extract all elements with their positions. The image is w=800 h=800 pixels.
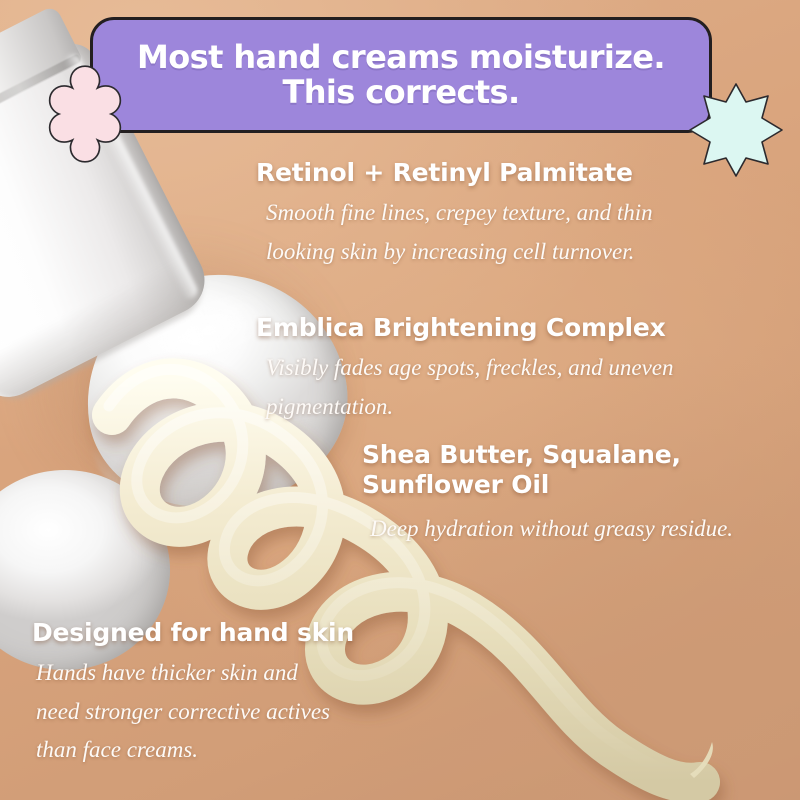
benefit-body-line: Hands have thicker skin and — [36, 654, 412, 693]
benefit-body-line: Smooth fine lines, crepey texture, and t… — [266, 194, 726, 233]
benefit-block-shea: Shea Butter, Squalane, Sunflower Oil Dee… — [362, 440, 782, 549]
starburst-icon — [686, 80, 786, 180]
benefit-block-retinol: Retinol + Retinyl Palmitate Smooth fine … — [256, 158, 726, 271]
benefit-body-line: looking skin by increasing cell turnover… — [266, 233, 726, 272]
benefit-body-line: pigmentation. — [266, 388, 736, 427]
benefit-body: Visibly fades age spots, freckles, and u… — [256, 349, 736, 426]
benefit-body: Deep hydration without greasy residue. — [362, 510, 782, 549]
benefit-heading: Designed for hand skin — [32, 618, 412, 648]
poster-canvas: Most hand creams moisturize. This correc… — [0, 0, 800, 800]
benefit-heading-line: Shea Butter, Squalane, — [362, 440, 782, 470]
benefit-body: Hands have thicker skin and need stronge… — [32, 654, 412, 770]
benefit-heading: Retinol + Retinyl Palmitate — [256, 158, 726, 188]
benefit-block-emblica: Emblica Brightening Complex Visibly fade… — [256, 313, 736, 426]
flower-icon — [33, 62, 137, 166]
benefit-heading: Shea Butter, Squalane, Sunflower Oil — [362, 440, 782, 500]
benefit-body-line: need stronger corrective actives — [36, 693, 412, 732]
benefit-block-hands: Designed for hand skin Hands have thicke… — [32, 618, 412, 770]
benefit-heading: Emblica Brightening Complex — [256, 313, 736, 343]
benefit-body-line: than face creams. — [36, 731, 412, 770]
header-banner — [90, 17, 712, 133]
benefit-body: Smooth fine lines, crepey texture, and t… — [256, 194, 726, 271]
benefit-heading-line: Sunflower Oil — [362, 470, 782, 500]
benefit-body-line: Visibly fades age spots, freckles, and u… — [266, 349, 736, 388]
benefit-body-line: Deep hydration without greasy residue. — [370, 510, 782, 549]
